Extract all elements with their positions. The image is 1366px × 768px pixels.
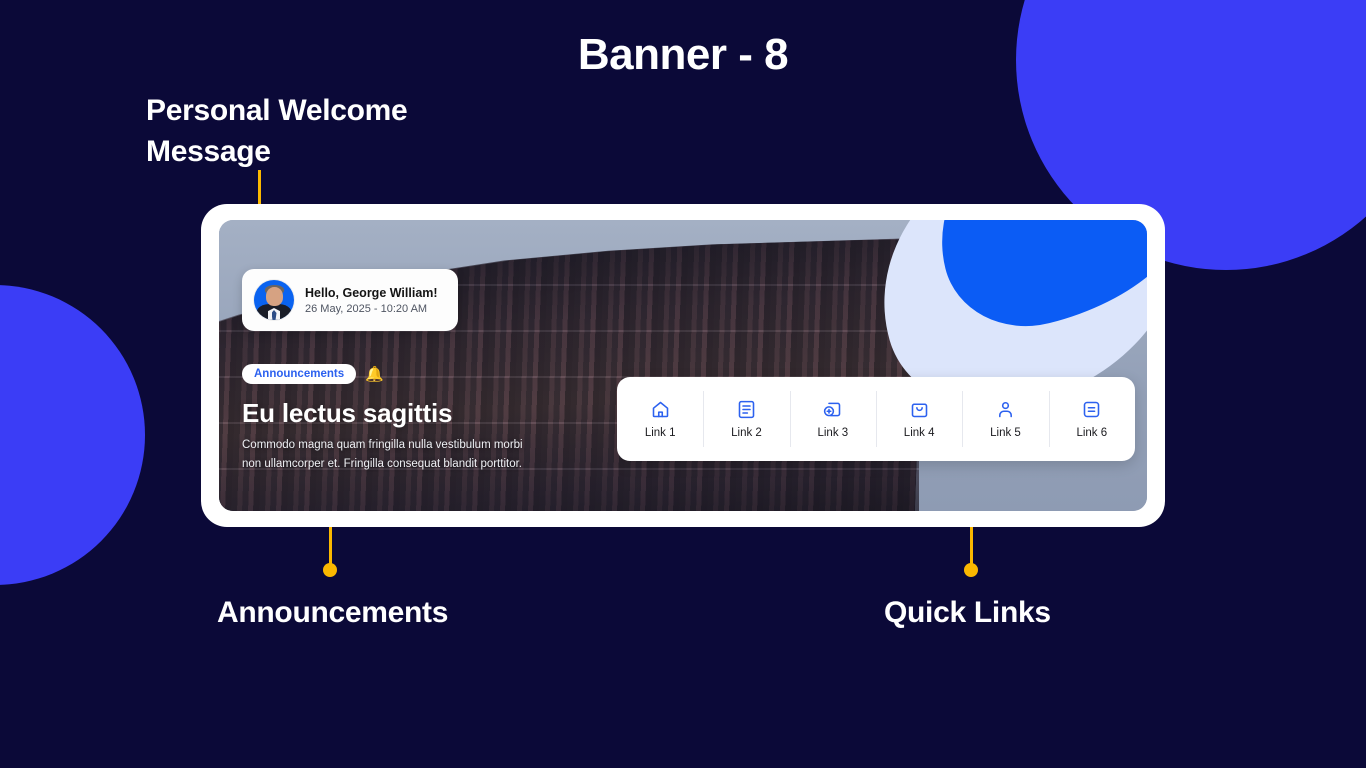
quick-link-4[interactable]: Link 4: [876, 391, 962, 447]
file-text-icon: [736, 399, 757, 420]
quick-link-label-4: Link 4: [904, 427, 935, 439]
connector-dot-quick-links: [964, 563, 978, 577]
announcement-header-row: Announcements 🔔: [242, 364, 384, 384]
quick-link-3[interactable]: Link 3: [790, 391, 876, 447]
background-circle-left: [0, 285, 145, 585]
annotation-label-quick-links: Quick Links: [884, 592, 1051, 633]
welcome-datetime: 26 May, 2025 - 10:20 AM: [305, 303, 438, 315]
image-add-icon: [822, 399, 843, 420]
connector-dot-announcements: [323, 563, 337, 577]
quick-link-5[interactable]: Link 5: [962, 391, 1048, 447]
shopping-bag-icon: [909, 399, 930, 420]
banner-inner: Hello, George William! 26 May, 2025 - 10…: [219, 220, 1147, 511]
quick-links-panel: Link 1 Link 2 Link 3: [617, 377, 1135, 461]
bell-icon: 🔔: [365, 367, 384, 382]
welcome-card[interactable]: Hello, George William! 26 May, 2025 - 10…: [242, 269, 458, 331]
annotation-label-announcements: Announcements: [217, 592, 448, 633]
quick-link-label-1: Link 1: [645, 427, 676, 439]
announcements-badge[interactable]: Announcements: [242, 364, 356, 384]
banner-card: Hello, George William! 26 May, 2025 - 10…: [201, 204, 1165, 527]
announcement-description: Commodo magna quam fringilla nulla vesti…: [242, 436, 542, 474]
quick-link-2[interactable]: Link 2: [703, 391, 789, 447]
quick-link-label-2: Link 2: [731, 427, 762, 439]
user-icon: [995, 399, 1016, 420]
banner-preview-stage: Banner - 8 Personal Welcome Message Anno…: [0, 0, 1366, 768]
quick-link-label-6: Link 6: [1076, 427, 1107, 439]
avatar: [254, 280, 294, 320]
list-box-icon: [1081, 399, 1102, 420]
quick-link-1[interactable]: Link 1: [617, 391, 703, 447]
annotation-label-personal-welcome: Personal Welcome Message: [146, 90, 476, 173]
announcement-title: Eu lectus sagittis: [242, 398, 452, 429]
welcome-text-group: Hello, George William! 26 May, 2025 - 10…: [305, 286, 438, 315]
quick-link-label-3: Link 3: [817, 427, 848, 439]
quick-link-6[interactable]: Link 6: [1049, 391, 1135, 447]
page-title: Banner - 8: [0, 30, 1366, 80]
home-icon: [650, 399, 671, 420]
welcome-greeting: Hello, George William!: [305, 286, 438, 300]
quick-link-label-5: Link 5: [990, 427, 1021, 439]
